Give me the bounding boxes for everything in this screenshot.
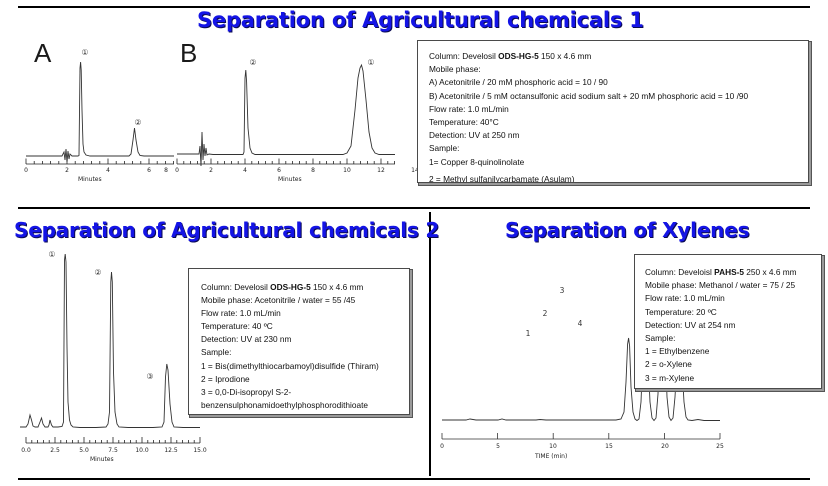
- axis-tick-agri1-A-2: 4: [106, 167, 110, 174]
- poster-page: Separation of Agricultural chemicals 1 A…: [0, 0, 828, 486]
- axis-agri1-A: [22, 158, 180, 168]
- axis-tick-agri2-2: 5.0: [79, 447, 89, 454]
- axis-tick-xylenes-1: 5: [496, 443, 500, 450]
- axis-tick-agri2-1: 2.5: [50, 447, 60, 454]
- info-column-name: PAHS-5: [714, 267, 744, 277]
- info-line-sample-2: 2 = Methyl sulfanilycarbamate (Asulam): [429, 173, 808, 183]
- axis-label-agri2: Minutes: [90, 456, 114, 463]
- axis-tick-agri1-B-2: 4: [243, 167, 247, 174]
- info-line-sample-3a: 3 = 0,0-Di-isopropyl S-2-: [201, 386, 409, 399]
- info-line-flow-rate: Flow rate: 1.0 mL/min: [201, 307, 409, 320]
- axis-agri2: [18, 436, 213, 446]
- info-line-mobile-phase: Mobile phase: Acetonitrile / water = 55 …: [201, 294, 409, 307]
- info-column-suffix: 150 x 4.6 mm: [539, 51, 592, 61]
- info-line-mobile-b: B) Acetonitrile / 5 mM octansulfonic aci…: [429, 90, 808, 103]
- axis-tick-agri2-0: 0.0: [21, 447, 31, 454]
- info-line-sample: Sample:: [429, 142, 808, 155]
- info-line-sample-3b: benzensulphonamidoethylphosphorodithioat…: [201, 399, 409, 412]
- axis-tick-agri1-B-6: 12: [377, 167, 385, 174]
- axis-tick-agri1-B-4: 8: [311, 167, 315, 174]
- axis-tick-agri1-B-5: 10: [343, 167, 351, 174]
- axis-tick-agri2-4: 10.0: [135, 447, 148, 454]
- axis-label-xylenes: TIME (min): [535, 453, 567, 460]
- info-line-temperature: Temperature: 40 ºC: [201, 320, 409, 333]
- axis-label-agri1-A: Minutes: [78, 176, 102, 183]
- info-line-temperature: Temperature: 20 ºC: [645, 306, 821, 319]
- method-info-box-agricultural-1: Column: Develosil ODS-HG-5 150 x 4.6 mm …: [417, 40, 809, 183]
- info-line-sample-1: 1 = Bis(dimethylthiocarbamoyl)disulfide …: [201, 360, 409, 373]
- axis-tick-agri1-A-0: 0: [24, 167, 28, 174]
- peak-label-agri2-2: ②: [94, 268, 101, 277]
- axis-tick-xylenes-0: 0: [440, 443, 444, 450]
- bottom-divider-rule: [18, 478, 810, 480]
- peak-label-xylene-4: 4: [578, 319, 583, 328]
- info-line-detection: Detection: UV at 230 nm: [201, 333, 409, 346]
- info-line-column: Column: Develosil ODS-HG-5 150 x 4.6 mm: [201, 281, 409, 294]
- axis-tick-agri1-B-3: 6: [277, 167, 281, 174]
- info-line-detection: Detection: UV at 250 nm: [429, 129, 808, 142]
- info-line-sample-3c: (Bensulide): [201, 412, 409, 415]
- info-line-sample-1: 1= Copper 8-quinolinolate: [429, 156, 808, 169]
- axis-tick-xylenes-3: 15: [605, 443, 613, 450]
- section-title-xylenes: Separation of Xylenes: [505, 218, 749, 242]
- axis-xylenes: [436, 432, 726, 442]
- info-column-name: ODS-HG-5: [498, 51, 539, 61]
- axis-tick-agri2-5: 12.5: [164, 447, 177, 454]
- info-line-sample-1: 1 = Ethylbenzene: [645, 345, 821, 358]
- info-line-flow-rate: Flow rate: 1.0 mL/min: [645, 292, 821, 305]
- info-column-prefix: Column: Develosil: [429, 51, 498, 61]
- axis-tick-agri1-B-1: 2: [209, 167, 213, 174]
- info-line-mobile-a: A) Acetonitrile / 20 mM phosphoric acid …: [429, 76, 808, 89]
- info-column-suffix: 150 x 4.6 mm: [311, 282, 364, 292]
- axis-label-agri1-B: Minutes: [278, 176, 302, 183]
- info-line-column: Column: Develoisl PAHS-5 250 x 4.6 mm: [645, 266, 821, 279]
- axis-tick-xylenes-5: 25: [716, 443, 724, 450]
- chromatogram-agri2: [18, 252, 213, 437]
- axis-tick-agri1-A-4: 8: [164, 167, 168, 174]
- info-line-sample-4: 4 = p-Xylene: [645, 385, 821, 389]
- info-line-sample: Sample:: [201, 346, 409, 359]
- axis-tick-agri2-6: 15.0: [193, 447, 206, 454]
- section-title-agricultural-2: Separation of Agricultural chemicals 2: [14, 218, 439, 242]
- peak-label-agri2-3: ③: [146, 372, 153, 381]
- info-line-sample: Sample:: [645, 332, 821, 345]
- peak-label-xylene-3: 3: [560, 286, 565, 295]
- info-line-sample-2: 2 = Iprodione: [201, 373, 409, 386]
- section-title-agricultural-1: Separation of Agricultural chemicals 1: [197, 8, 644, 32]
- info-column-prefix: Column: Develosil: [201, 282, 270, 292]
- axis-tick-xylenes-4: 20: [661, 443, 669, 450]
- bottom-panels-vertical-divider: [429, 212, 431, 476]
- info-line-sample-2: 2 = o-Xylene: [645, 358, 821, 371]
- info-column-suffix: 250 x 4.6 mm: [744, 267, 797, 277]
- info-line-temperature: Temperature: 40°C: [429, 116, 808, 129]
- info-line-column: Column: Develosil ODS-HG-5 150 x 4.6 mm: [429, 50, 808, 63]
- peak-label-agri1-A-2: ②: [134, 118, 141, 127]
- info-line-sample-3: 3 = m-Xylene: [645, 372, 821, 385]
- middle-divider-rule: [18, 207, 810, 209]
- method-info-box-agricultural-2: Column: Develosil ODS-HG-5 150 x 4.6 mm …: [188, 268, 410, 415]
- info-column-name: ODS-HG-5: [270, 282, 311, 292]
- axis-tick-agri1-A-1: 2: [65, 167, 69, 174]
- axis-tick-xylenes-2: 10: [549, 443, 557, 450]
- peak-label-xylene-1: 1: [526, 329, 531, 338]
- axis-tick-agri1-A-3: 6: [147, 167, 151, 174]
- info-column-prefix: Column: Develoisl: [645, 267, 714, 277]
- peak-label-xylene-2: 2: [543, 309, 548, 318]
- peak-label-agri1-B-2: ②: [249, 58, 256, 67]
- chromatogram-agri1-A: [22, 48, 180, 166]
- peak-label-agri1-A-1: ①: [81, 48, 88, 57]
- peak-label-agri1-B-1: ①: [367, 58, 374, 67]
- peak-label-agri2-1: ①: [48, 250, 55, 259]
- axis-tick-agri2-3: 7.5: [108, 447, 118, 454]
- info-line-mobile-phase: Mobile phase:: [429, 63, 808, 76]
- info-line-flow-rate: Flow rate: 1.0 mL/min: [429, 103, 808, 116]
- info-line-mobile-phase: Mobile phase: Methanol / water = 75 / 25: [645, 279, 821, 292]
- info-line-detection: Detection: UV at 254 nm: [645, 319, 821, 332]
- method-info-box-xylenes: Column: Develoisl PAHS-5 250 x 4.6 mm Mo…: [634, 254, 822, 389]
- axis-tick-agri1-B-0: 0: [175, 167, 179, 174]
